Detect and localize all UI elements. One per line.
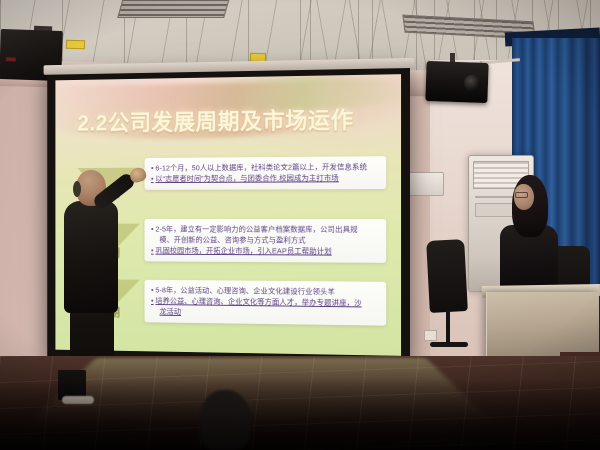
attendee-person (498, 175, 560, 300)
foreground-shadow (0, 380, 600, 450)
foreground-shoe (200, 390, 250, 450)
ceiling-projector-icon (425, 61, 488, 103)
conference-room-photo: 2.2公司发展周期及市场运作 成长期 稳定期 成熟期 •6-12个月，50人以上… (0, 0, 600, 450)
presenter-torso (64, 201, 118, 313)
presenter-hair (73, 181, 81, 197)
bullet-line: •巩固校园市场，开拓企业市场，引入EAP员工帮助计划 (151, 245, 380, 257)
ceiling-vent-left-icon (117, 0, 230, 18)
bullet-line: 龙活动 (151, 306, 380, 320)
chair-stem (446, 310, 450, 344)
content-box-growth: •6-12个月，50人以上数据库，社科类论文2篇以上，开发信息系统 •以“志愿者… (145, 156, 387, 190)
office-chair[interactable] (426, 239, 468, 313)
bullet-line: •以“志愿者时间”为契合点，与团委合作,校园成为主打市场 (151, 172, 380, 184)
wall-sign-left (66, 40, 85, 49)
power-outlet[interactable] (424, 330, 437, 341)
content-box-stable: •2-5年，建立有一定影响力的公益客户档案数据库，公司出具规 模、开创新的公益、… (145, 219, 387, 263)
attendee-glasses-icon (515, 192, 528, 198)
slide-title: 2.2公司发展周期及市场运作 (77, 101, 353, 138)
projector-lens-icon (464, 74, 482, 92)
bullet-line: •2-5年，建立有一定影响力的公益客户档案数据库，公司出具规 (151, 224, 380, 235)
chair-base (430, 342, 468, 347)
content-box-mature: •5-8年，公益活动、心理咨询、企业文化建设行业领头羊 •培养公益、心理咨询、企… (145, 280, 387, 326)
